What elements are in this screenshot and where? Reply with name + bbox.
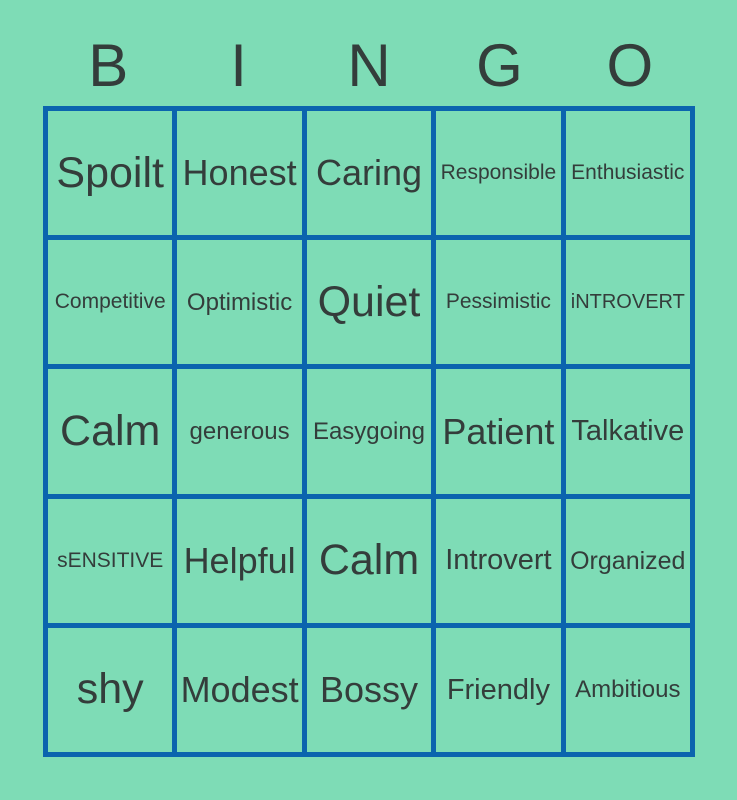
bingo-cell-label: Caring: [316, 154, 422, 192]
bingo-cell-r4c5[interactable]: Organized: [566, 499, 690, 623]
bingo-cell-label: Friendly: [447, 675, 550, 705]
bingo-cell-r4c1[interactable]: sENSITIVE: [48, 499, 172, 623]
bingo-header-letter-i: I: [173, 36, 303, 96]
bingo-cell-r5c3[interactable]: Bossy: [307, 628, 431, 752]
bingo-cell-label: iNTROVERT: [571, 292, 685, 313]
bingo-grid: SpoiltHonestCaringResponsibleEnthusiasti…: [43, 106, 695, 757]
bingo-cell-label: Calm: [60, 409, 160, 454]
bingo-cell-label: Enthusiastic: [571, 162, 684, 184]
bingo-cell-label: generous: [190, 419, 290, 444]
bingo-cell-r5c2[interactable]: Modest: [177, 628, 301, 752]
bingo-header-letter-n: N: [304, 36, 434, 96]
bingo-cell-r2c4[interactable]: Pessimistic: [436, 240, 560, 364]
bingo-header-letter-o: O: [565, 36, 695, 96]
bingo-cell-r4c2[interactable]: Helpful: [177, 499, 301, 623]
bingo-cell-r3c3[interactable]: Easygoing: [307, 369, 431, 493]
bingo-cell-label: Talkative: [571, 416, 684, 446]
bingo-cell-label: Optimistic: [187, 290, 292, 315]
bingo-cell-label: Competitive: [55, 291, 166, 313]
bingo-cell-label: shy: [77, 667, 144, 712]
bingo-cell-label: Patient: [442, 413, 554, 451]
bingo-header-letter-g: G: [434, 36, 564, 96]
bingo-cell-r3c2[interactable]: generous: [177, 369, 301, 493]
bingo-cell-label: Organized: [570, 548, 685, 574]
bingo-cell-label: Modest: [181, 671, 299, 709]
bingo-cell-r5c1[interactable]: shy: [48, 628, 172, 752]
bingo-cell-label: Easygoing: [313, 419, 425, 444]
bingo-cell-label: Spoilt: [56, 151, 164, 196]
bingo-cell-r3c4[interactable]: Patient: [436, 369, 560, 493]
bingo-cell-r2c1[interactable]: Competitive: [48, 240, 172, 364]
bingo-cell-label: Honest: [183, 154, 297, 192]
bingo-cell-r1c3[interactable]: Caring: [307, 111, 431, 235]
bingo-cell-r4c3[interactable]: Calm: [307, 499, 431, 623]
bingo-header-row: BINGO: [43, 30, 695, 102]
bingo-header-letter-b: B: [43, 36, 173, 96]
bingo-cell-r1c1[interactable]: Spoilt: [48, 111, 172, 235]
bingo-cell-r1c2[interactable]: Honest: [177, 111, 301, 235]
bingo-cell-label: Introvert: [445, 545, 551, 575]
bingo-cell-r2c5[interactable]: iNTROVERT: [566, 240, 690, 364]
bingo-cell-label: Ambitious: [575, 677, 680, 702]
bingo-cell-r2c2[interactable]: Optimistic: [177, 240, 301, 364]
bingo-cell-r4c4[interactable]: Introvert: [436, 499, 560, 623]
bingo-cell-label: Pessimistic: [446, 291, 551, 313]
bingo-cell-label: Quiet: [318, 280, 421, 325]
bingo-cell-r2c3[interactable]: Quiet: [307, 240, 431, 364]
bingo-cell-r1c5[interactable]: Enthusiastic: [566, 111, 690, 235]
bingo-cell-label: Calm: [319, 538, 419, 583]
bingo-card: BINGO SpoiltHonestCaringResponsibleEnthu…: [0, 0, 737, 800]
bingo-cell-r1c4[interactable]: Responsible: [436, 111, 560, 235]
bingo-cell-label: Helpful: [184, 542, 296, 580]
bingo-cell-r5c4[interactable]: Friendly: [436, 628, 560, 752]
bingo-cell-label: Responsible: [441, 162, 557, 184]
bingo-cell-r3c5[interactable]: Talkative: [566, 369, 690, 493]
bingo-cell-label: sENSITIVE: [57, 550, 163, 572]
bingo-cell-r5c5[interactable]: Ambitious: [566, 628, 690, 752]
bingo-cell-r3c1[interactable]: Calm: [48, 369, 172, 493]
bingo-cell-label: Bossy: [320, 671, 418, 709]
